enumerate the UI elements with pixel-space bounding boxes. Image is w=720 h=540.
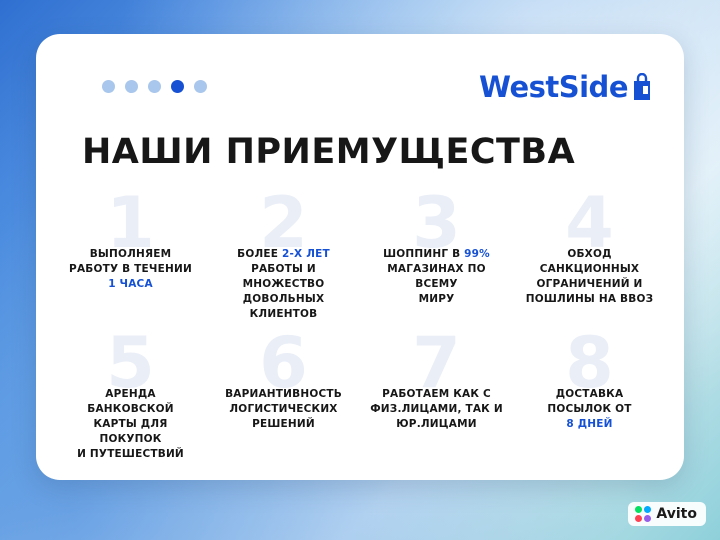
benefit-text-line: ПОСЫЛОК ОТ xyxy=(523,402,656,417)
benefit-plain: ПОСЫЛОК ОТ xyxy=(547,403,631,415)
slide-background: WestSide НАШИ ПРИЕМУЩЕСТВА 1ВЫПОЛНЯЕМРАБ… xyxy=(0,0,720,540)
pagination-dot-1[interactable] xyxy=(102,80,115,93)
pagination-dots[interactable] xyxy=(102,80,207,93)
benefit-text-line: ПОШЛИНЫ НА ВВОЗ xyxy=(523,292,656,307)
pagination-dot-3[interactable] xyxy=(148,80,161,93)
benefit-text: ВАРИАНТИВНОСТЬЛОГИСТИЧЕСКИХРЕШЕНИЙ xyxy=(217,387,350,432)
avito-watermark: Avito xyxy=(628,502,706,526)
benefit-highlight: 99% xyxy=(464,248,490,260)
benefits-grid: 1ВЫПОЛНЯЕМРАБОТУ В ТЕЧЕНИИ1 ЧАСА2БОЛЕЕ 2… xyxy=(58,192,662,456)
benefit-plain: АРЕНДА БАНКОВСКОЙ xyxy=(87,388,173,415)
benefit-text-line: ШОППИНГ В 99% xyxy=(370,247,503,262)
benefit-plain: ДОВОЛЬНЫХ КЛИЕНТОВ xyxy=(243,293,325,320)
benefit-text-line: ОГРАНИЧЕНИЙ И xyxy=(523,277,656,292)
benefit-text-line: ВЫПОЛНЯЕМ xyxy=(64,247,197,262)
benefit-item: 5АРЕНДА БАНКОВСКОЙКАРТЫ ДЛЯ ПОКУПОКИ ПУТ… xyxy=(58,332,203,456)
benefit-text-line: 8 ДНЕЙ xyxy=(523,417,656,432)
benefit-plain: МИРУ xyxy=(419,293,455,305)
benefit-text-line: ЛОГИСТИЧЕСКИХ xyxy=(217,402,350,417)
benefit-text-line: БОЛЕЕ 2-Х ЛЕТ xyxy=(217,247,350,262)
benefit-plain: ОГРАНИЧЕНИЙ И xyxy=(536,278,642,290)
benefit-text-line: ОБХОД САНКЦИОННЫХ xyxy=(523,247,656,277)
benefit-plain: РАБОТАЕМ КАК С xyxy=(382,388,491,400)
benefit-item: 8ДОСТАВКАПОСЫЛОК ОТ8 ДНЕЙ xyxy=(517,332,662,456)
benefit-text-line: ЮР.ЛИЦАМИ xyxy=(370,417,503,432)
benefit-text-line: РЕШЕНИЙ xyxy=(217,417,350,432)
pagination-dot-2[interactable] xyxy=(125,80,138,93)
benefit-plain: И ПУТЕШЕСТВИЙ xyxy=(77,448,184,460)
benefit-item: 4ОБХОД САНКЦИОННЫХОГРАНИЧЕНИЙ ИПОШЛИНЫ Н… xyxy=(517,192,662,316)
benefit-text-line: РАБОТЫ И МНОЖЕСТВО xyxy=(217,262,350,292)
avito-logo-icon xyxy=(635,506,651,522)
brand-name: WestSide xyxy=(479,70,628,104)
benefit-text: ДОСТАВКАПОСЫЛОК ОТ8 ДНЕЙ xyxy=(523,387,656,432)
benefit-text: ОБХОД САНКЦИОННЫХОГРАНИЧЕНИЙ ИПОШЛИНЫ НА… xyxy=(523,247,656,307)
benefit-highlight: 1 ЧАСА xyxy=(108,278,153,290)
benefit-text: АРЕНДА БАНКОВСКОЙКАРТЫ ДЛЯ ПОКУПОКИ ПУТЕ… xyxy=(64,387,197,462)
benefit-text-line: КАРТЫ ДЛЯ ПОКУПОК xyxy=(64,417,197,447)
benefit-plain: КАРТЫ ДЛЯ ПОКУПОК xyxy=(93,418,167,445)
pagination-dot-5[interactable] xyxy=(194,80,207,93)
brand-logo: WestSide xyxy=(479,70,654,104)
benefit-item: 3ШОППИНГ В 99%МАГАЗИНАХ ПО ВСЕМУМИРУ xyxy=(364,192,509,316)
benefit-item: 7РАБОТАЕМ КАК СФИЗ.ЛИЦАМИ, ТАК ИЮР.ЛИЦАМ… xyxy=(364,332,509,456)
benefit-highlight: 8 ДНЕЙ xyxy=(566,418,612,430)
benefit-text-line: 1 ЧАСА xyxy=(64,277,197,292)
benefit-text: РАБОТАЕМ КАК СФИЗ.ЛИЦАМИ, ТАК ИЮР.ЛИЦАМИ xyxy=(370,387,503,432)
benefit-text-line: ФИЗ.ЛИЦАМИ, ТАК И xyxy=(370,402,503,417)
benefit-text: БОЛЕЕ 2-Х ЛЕТРАБОТЫ И МНОЖЕСТВОДОВОЛЬНЫХ… xyxy=(217,247,350,322)
benefit-item: 2БОЛЕЕ 2-Х ЛЕТРАБОТЫ И МНОЖЕСТВОДОВОЛЬНЫ… xyxy=(211,192,356,316)
benefit-plain: ФИЗ.ЛИЦАМИ, ТАК И xyxy=(370,403,503,415)
benefit-item: 1ВЫПОЛНЯЕМРАБОТУ В ТЕЧЕНИИ1 ЧАСА xyxy=(58,192,203,316)
benefit-plain: МАГАЗИНАХ ПО ВСЕМУ xyxy=(387,263,485,290)
benefit-plain: ШОППИНГ В xyxy=(383,248,464,260)
benefit-text-line: МИРУ xyxy=(370,292,503,307)
benefit-text-line: РАБОТУ В ТЕЧЕНИИ xyxy=(64,262,197,277)
benefit-plain: ВЫПОЛНЯЕМ xyxy=(90,248,172,260)
shopping-bag-icon xyxy=(632,73,654,101)
content-card: WestSide НАШИ ПРИЕМУЩЕСТВА 1ВЫПОЛНЯЕМРАБ… xyxy=(36,34,684,480)
benefit-plain: БОЛЕЕ xyxy=(237,248,282,260)
benefit-plain: РАБОТУ В ТЕЧЕНИИ xyxy=(69,263,192,275)
benefit-item: 6ВАРИАНТИВНОСТЬЛОГИСТИЧЕСКИХРЕШЕНИЙ xyxy=(211,332,356,456)
benefit-text: ШОППИНГ В 99%МАГАЗИНАХ ПО ВСЕМУМИРУ xyxy=(370,247,503,307)
benefit-plain: ПОШЛИНЫ НА ВВОЗ xyxy=(526,293,653,305)
benefit-text-line: И ПУТЕШЕСТВИЙ xyxy=(64,447,197,462)
benefit-text-line: РАБОТАЕМ КАК С xyxy=(370,387,503,402)
benefit-text-line: ДОВОЛЬНЫХ КЛИЕНТОВ xyxy=(217,292,350,322)
benefit-plain: РЕШЕНИЙ xyxy=(252,418,315,430)
benefit-plain: ЮР.ЛИЦАМИ xyxy=(396,418,476,430)
page-title: НАШИ ПРИЕМУЩЕСТВА xyxy=(82,132,575,172)
avito-label: Avito xyxy=(656,506,697,522)
pagination-dot-4[interactable] xyxy=(171,80,184,93)
benefit-plain: ДОСТАВКА xyxy=(556,388,624,400)
benefit-plain: ОБХОД САНКЦИОННЫХ xyxy=(540,248,639,275)
benefit-plain: ВАРИАНТИВНОСТЬ xyxy=(225,388,342,400)
benefit-text-line: МАГАЗИНАХ ПО ВСЕМУ xyxy=(370,262,503,292)
benefit-plain: ЛОГИСТИЧЕСКИХ xyxy=(229,403,337,415)
benefit-highlight: 2-Х ЛЕТ xyxy=(282,248,330,260)
benefit-text-line: ВАРИАНТИВНОСТЬ xyxy=(217,387,350,402)
benefit-text-line: АРЕНДА БАНКОВСКОЙ xyxy=(64,387,197,417)
benefit-text-line: ДОСТАВКА xyxy=(523,387,656,402)
benefit-plain: РАБОТЫ И МНОЖЕСТВО xyxy=(243,263,325,290)
benefit-text: ВЫПОЛНЯЕМРАБОТУ В ТЕЧЕНИИ1 ЧАСА xyxy=(64,247,197,292)
